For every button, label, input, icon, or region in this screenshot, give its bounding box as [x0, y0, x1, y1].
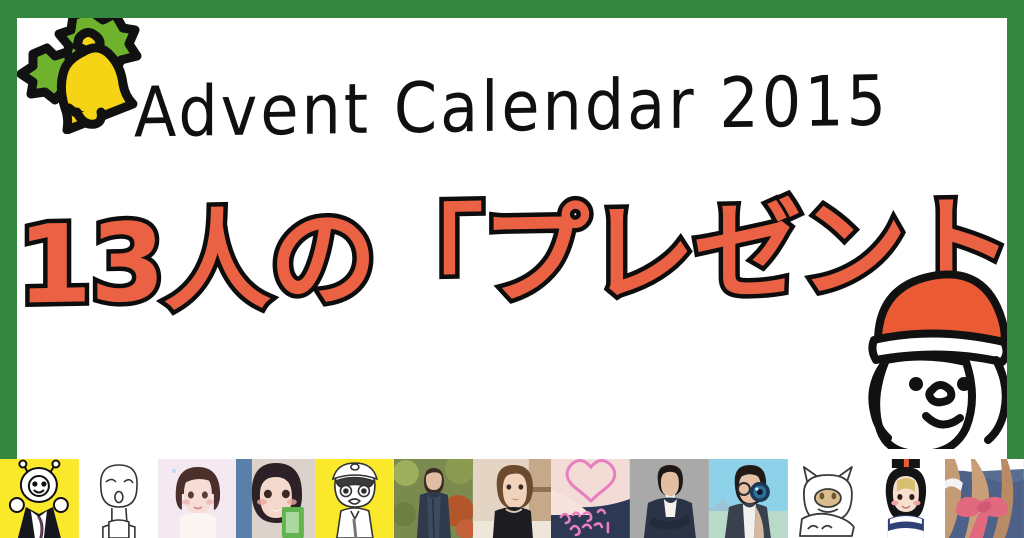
banner-content-area: Advent Calendar 2015 13人の「プレゼント」	[17, 18, 1007, 523]
banner-title-line: Advent Calendar 2015	[17, 76, 1007, 138]
avatar-sketch-face[interactable]	[79, 459, 158, 538]
christmas-bell-icon	[17, 18, 161, 134]
avatar-man-arms-crossed[interactable]	[630, 459, 709, 538]
avatar-man-autumn-trees[interactable]	[394, 459, 473, 538]
avatar-anime-ribbon-uniform[interactable]	[945, 459, 1024, 538]
avatar-bee-suit-character[interactable]	[0, 459, 79, 538]
santa-claus-icon	[854, 264, 1007, 449]
avatar-man-with-lens[interactable]	[709, 459, 788, 538]
page-title: Advent Calendar 2015	[134, 66, 889, 147]
avatar-illustrated-bob-girl[interactable]	[158, 459, 237, 538]
advent-calendar-banner: Advent Calendar 2015 13人の「プレゼント」	[0, 0, 1024, 538]
participant-avatar-strip	[0, 459, 1024, 538]
avatar-woman-in-cafe[interactable]	[473, 459, 552, 538]
avatar-anime-blonde-girl[interactable]	[866, 459, 945, 538]
avatar-white-cat-pig[interactable]	[788, 459, 867, 538]
avatar-heart-shuuji-sensei[interactable]	[551, 459, 630, 538]
avatar-sailor-cap-character[interactable]	[315, 459, 394, 538]
avatar-girl-with-green-drink[interactable]	[236, 459, 315, 538]
